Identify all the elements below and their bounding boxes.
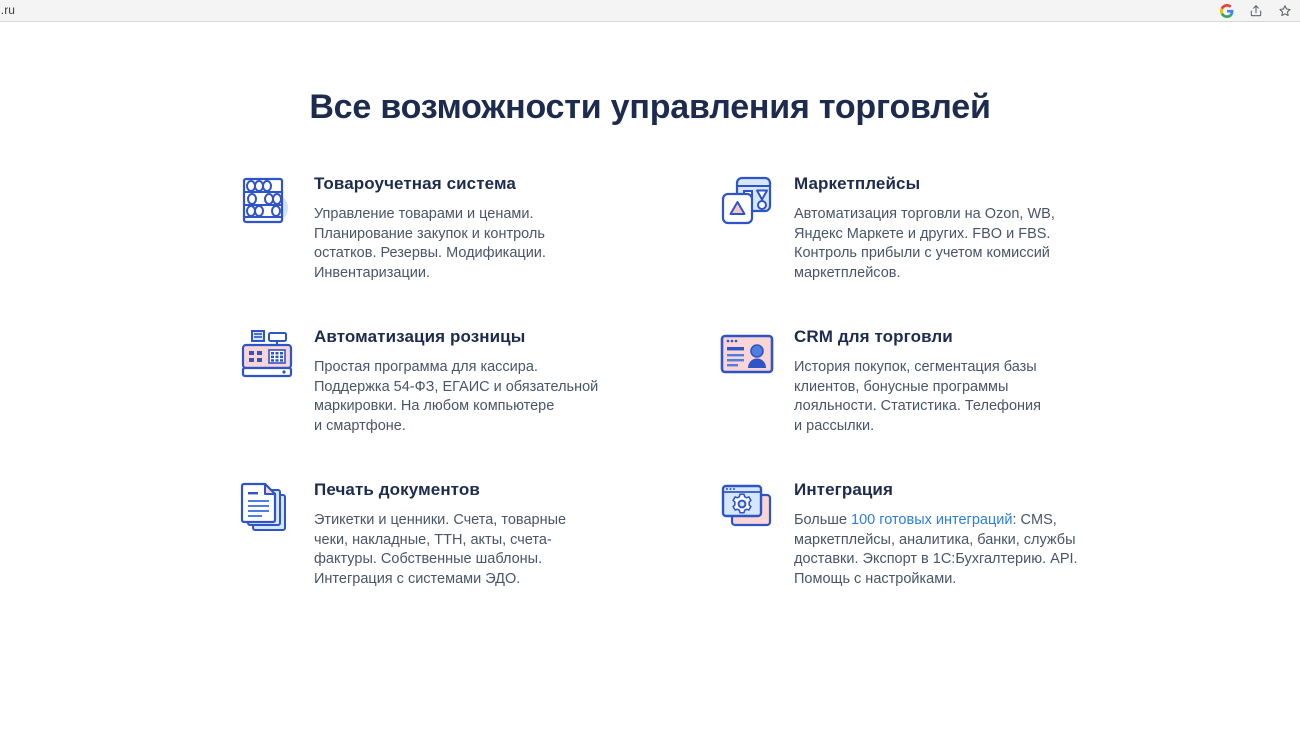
desc-line: лояльности. Статистика. Телефония xyxy=(794,398,1041,414)
feature-card: Интеграция Больше 100 готовых интеграций… xyxy=(718,476,1098,629)
marketplace-cards-icon xyxy=(718,172,776,230)
google-icon[interactable] xyxy=(1219,4,1234,19)
page-content: Все возможности управления торговлей xyxy=(0,22,1300,731)
browser-toolbar: d.ru xyxy=(0,0,1300,22)
gear-window-icon xyxy=(718,478,776,536)
desc-line: Помощь с настройками. xyxy=(794,571,956,587)
abacus-icon xyxy=(238,172,296,230)
desc-line: Управление товарами и ценами. xyxy=(314,206,534,222)
integrations-link[interactable]: 100 готовых интеграций xyxy=(851,512,1012,528)
desc-line: маркетплейсов. xyxy=(794,265,901,281)
desc-line: Автоматизация торговли на Ozon, WB, xyxy=(794,206,1055,222)
desc-prefix: Больше xyxy=(794,512,851,528)
desc-line: История покупок, сегментация базы xyxy=(794,359,1037,375)
desc-line: фактуры. Собственные шаблоны. xyxy=(314,551,542,567)
features-grid: Товароучетная система Управление товарам… xyxy=(238,170,1098,629)
desc-line: и смартфоне. xyxy=(314,418,406,434)
desc-line: : CMS, xyxy=(1012,512,1056,528)
feature-title: Товароучетная система xyxy=(314,174,546,194)
desc-line: и рассылки. xyxy=(794,418,874,434)
feature-text: Интеграция Больше 100 готовых интеграций… xyxy=(794,476,1078,589)
desc-line: Этикетки и ценники. Счета, товарные xyxy=(314,512,566,528)
feature-description: Управление товарами и ценами. Планирован… xyxy=(314,205,546,283)
share-icon[interactable] xyxy=(1248,4,1263,19)
page-title: Все возможности управления торговлей xyxy=(0,88,1300,127)
desc-line: Простая программа для кассира. xyxy=(314,359,538,375)
feature-card: Товароучетная система Управление товарам… xyxy=(238,170,718,323)
desc-line: клиентов, бонусные программы xyxy=(794,379,1008,395)
feature-card: CRM для торговли История покупок, сегмен… xyxy=(718,323,1098,476)
cash-register-icon xyxy=(238,325,296,383)
desc-line: доставки. Экспорт в 1С:Бухгалтерию. API. xyxy=(794,551,1078,567)
desc-line: Контроль прибыли с учетом комиссий xyxy=(794,245,1050,261)
feature-description: Простая программа для кассира. Поддержка… xyxy=(314,358,598,436)
desc-line: Интеграция с системами ЭДО. xyxy=(314,571,520,587)
desc-line: маркировки. На любом компьютере xyxy=(314,398,554,414)
feature-title: CRM для торговли xyxy=(794,327,1041,347)
feature-text: CRM для торговли История покупок, сегмен… xyxy=(794,323,1041,436)
desc-line: маркетплейсы, аналитика, банки, службы xyxy=(794,532,1076,548)
feature-text: Автоматизация розницы Простая программа … xyxy=(314,323,598,436)
desc-line: остатков. Резервы. Модификации. xyxy=(314,245,546,261)
address-bar-url[interactable]: d.ru xyxy=(0,3,15,17)
id-card-icon xyxy=(718,325,776,383)
feature-title: Автоматизация розницы xyxy=(314,327,598,347)
feature-card: Маркетплейсы Автоматизация торговли на O… xyxy=(718,170,1098,323)
feature-title: Интеграция xyxy=(794,480,1078,500)
desc-line: чеки, накладные, ТТН, акты, счета- xyxy=(314,532,552,548)
desc-line: Планирование закупок и контроль xyxy=(314,226,545,242)
feature-description: Этикетки и ценники. Счета, товарные чеки… xyxy=(314,511,566,589)
documents-stack-icon xyxy=(238,478,296,536)
feature-card: Печать документов Этикетки и ценники. Сч… xyxy=(238,476,718,629)
feature-description: Больше 100 готовых интеграций: CMS, марк… xyxy=(794,511,1078,589)
feature-title: Печать документов xyxy=(314,480,566,500)
feature-card: Автоматизация розницы Простая программа … xyxy=(238,323,718,476)
feature-description: История покупок, сегментация базы клиент… xyxy=(794,358,1041,436)
browser-action-icons xyxy=(1219,0,1292,22)
feature-description: Автоматизация торговли на Ozon, WB, Янде… xyxy=(794,205,1055,283)
bookmark-star-icon[interactable] xyxy=(1277,4,1292,19)
desc-line: Яндекс Маркете и других. FBO и FBS. xyxy=(794,226,1050,242)
feature-title: Маркетплейсы xyxy=(794,174,1055,194)
desc-line: Поддержка 54-ФЗ, ЕГАИС и обязательной xyxy=(314,379,598,395)
desc-line: Инвентаризации. xyxy=(314,265,430,281)
feature-text: Печать документов Этикетки и ценники. Сч… xyxy=(314,476,566,589)
feature-text: Товароучетная система Управление товарам… xyxy=(314,170,546,283)
feature-text: Маркетплейсы Автоматизация торговли на O… xyxy=(794,170,1055,283)
